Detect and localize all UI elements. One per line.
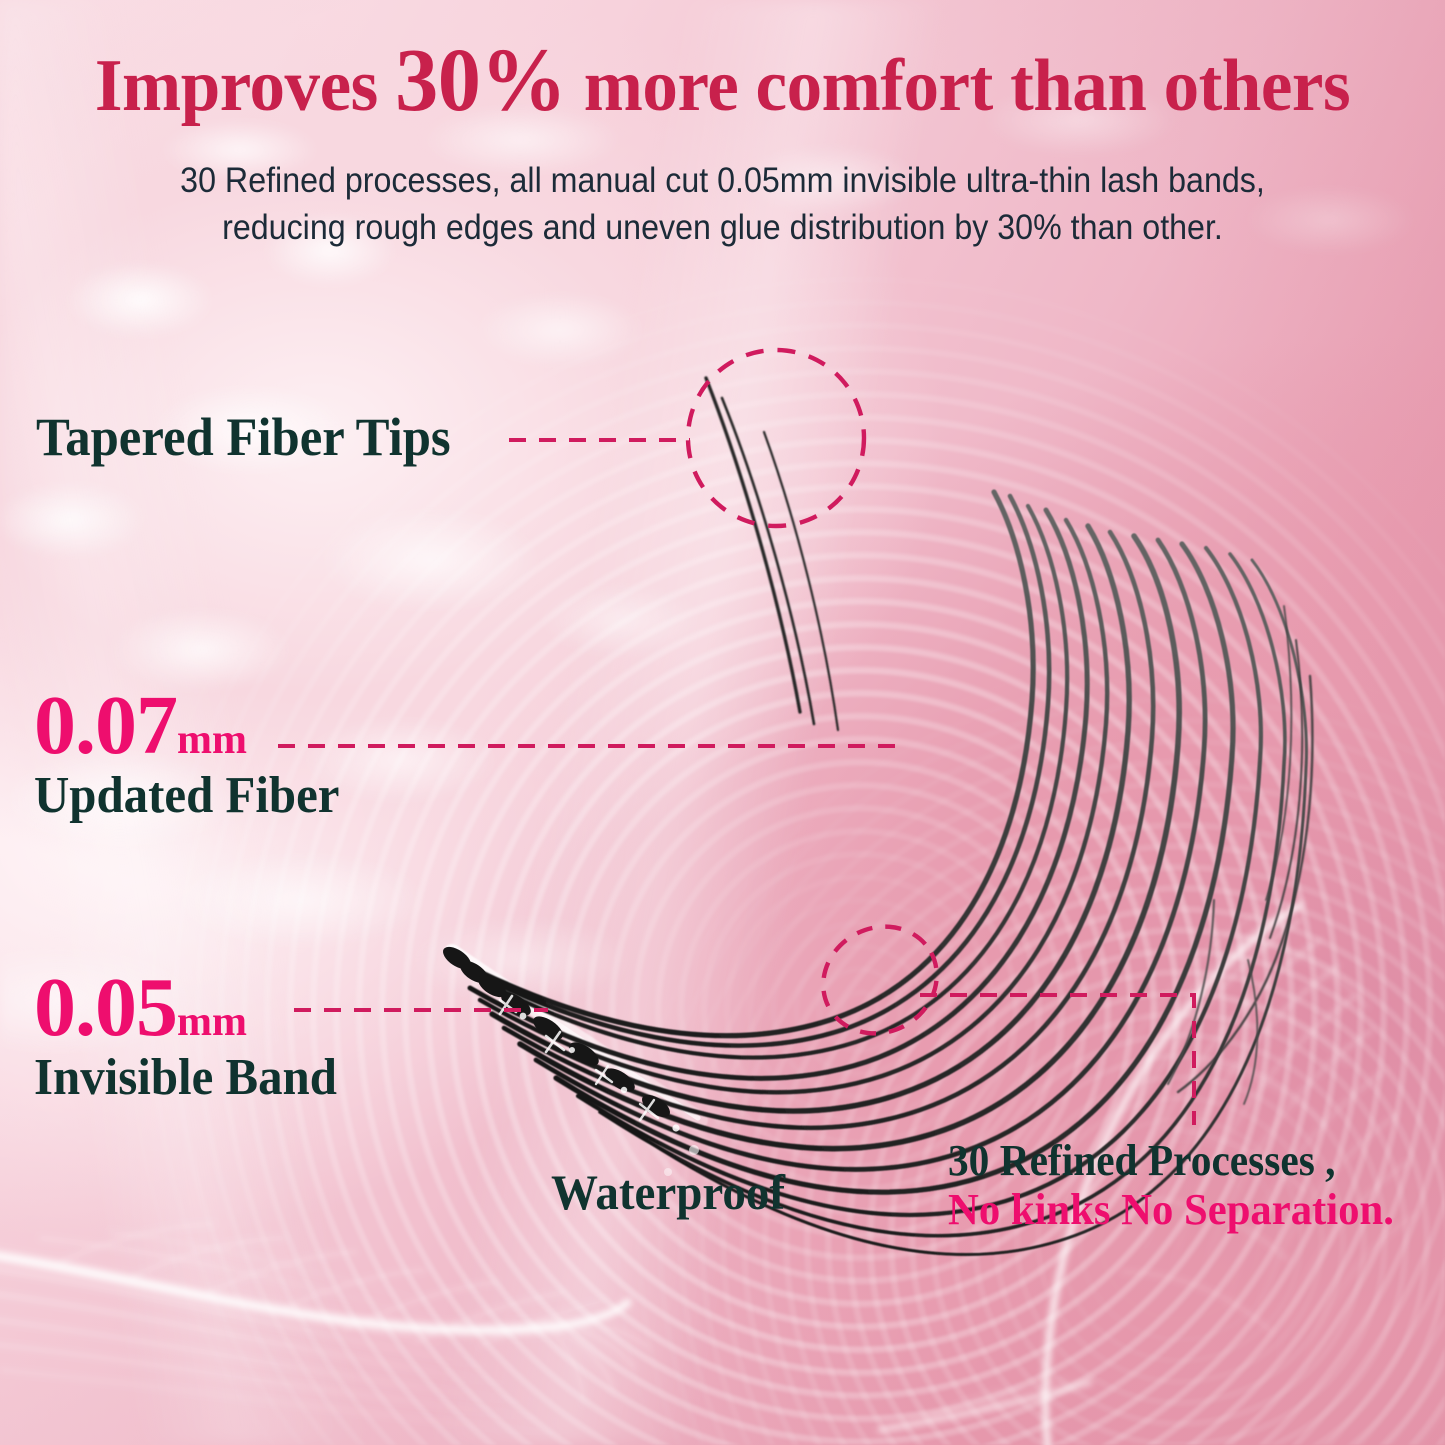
callout-label-no-kinks-no-separation: No kinks No Separation. — [948, 1184, 1394, 1235]
callout-circle-refined-processes — [804, 907, 955, 1053]
subtitle-line-2: reducing rough edges and uneven glue dis… — [108, 205, 1336, 252]
headline-part-before: Improves — [95, 45, 395, 127]
fiber-07-number: 0.07 — [34, 679, 177, 772]
fiber-07-unit: mm — [177, 717, 247, 763]
callout-label-refined-processes: 30 Refined Processes , — [948, 1135, 1336, 1186]
fiber-05-number: 0.05 — [34, 961, 177, 1054]
callout-circle-tapered-tips — [688, 350, 864, 526]
callout-value-fiber-07: 0.07mm — [34, 684, 247, 768]
infographic-canvas: Improves 30% more comfort than others 30… — [0, 0, 1445, 1445]
leader-line-refined-processes — [920, 995, 1194, 1125]
headline-part-after: more comfort than others — [566, 45, 1350, 127]
callout-value-fiber-05: 0.05mm — [34, 966, 247, 1050]
subtitle-block: 30 Refined processes, all manual cut 0.0… — [108, 158, 1336, 252]
callout-label-waterproof: Waterproof — [551, 1163, 785, 1221]
page-title: Improves 30% more comfort than others — [29, 34, 1416, 128]
subtitle-line-1: 30 Refined processes, all manual cut 0.0… — [108, 158, 1336, 205]
callout-label-tapered-fiber-tips: Tapered Fiber Tips — [36, 406, 451, 468]
fiber-05-unit: mm — [177, 999, 247, 1045]
callout-label-updated-fiber: Updated Fiber — [34, 766, 340, 825]
callout-label-invisible-band: Invisible Band — [34, 1048, 337, 1107]
headline-percent: 30% — [395, 31, 566, 130]
